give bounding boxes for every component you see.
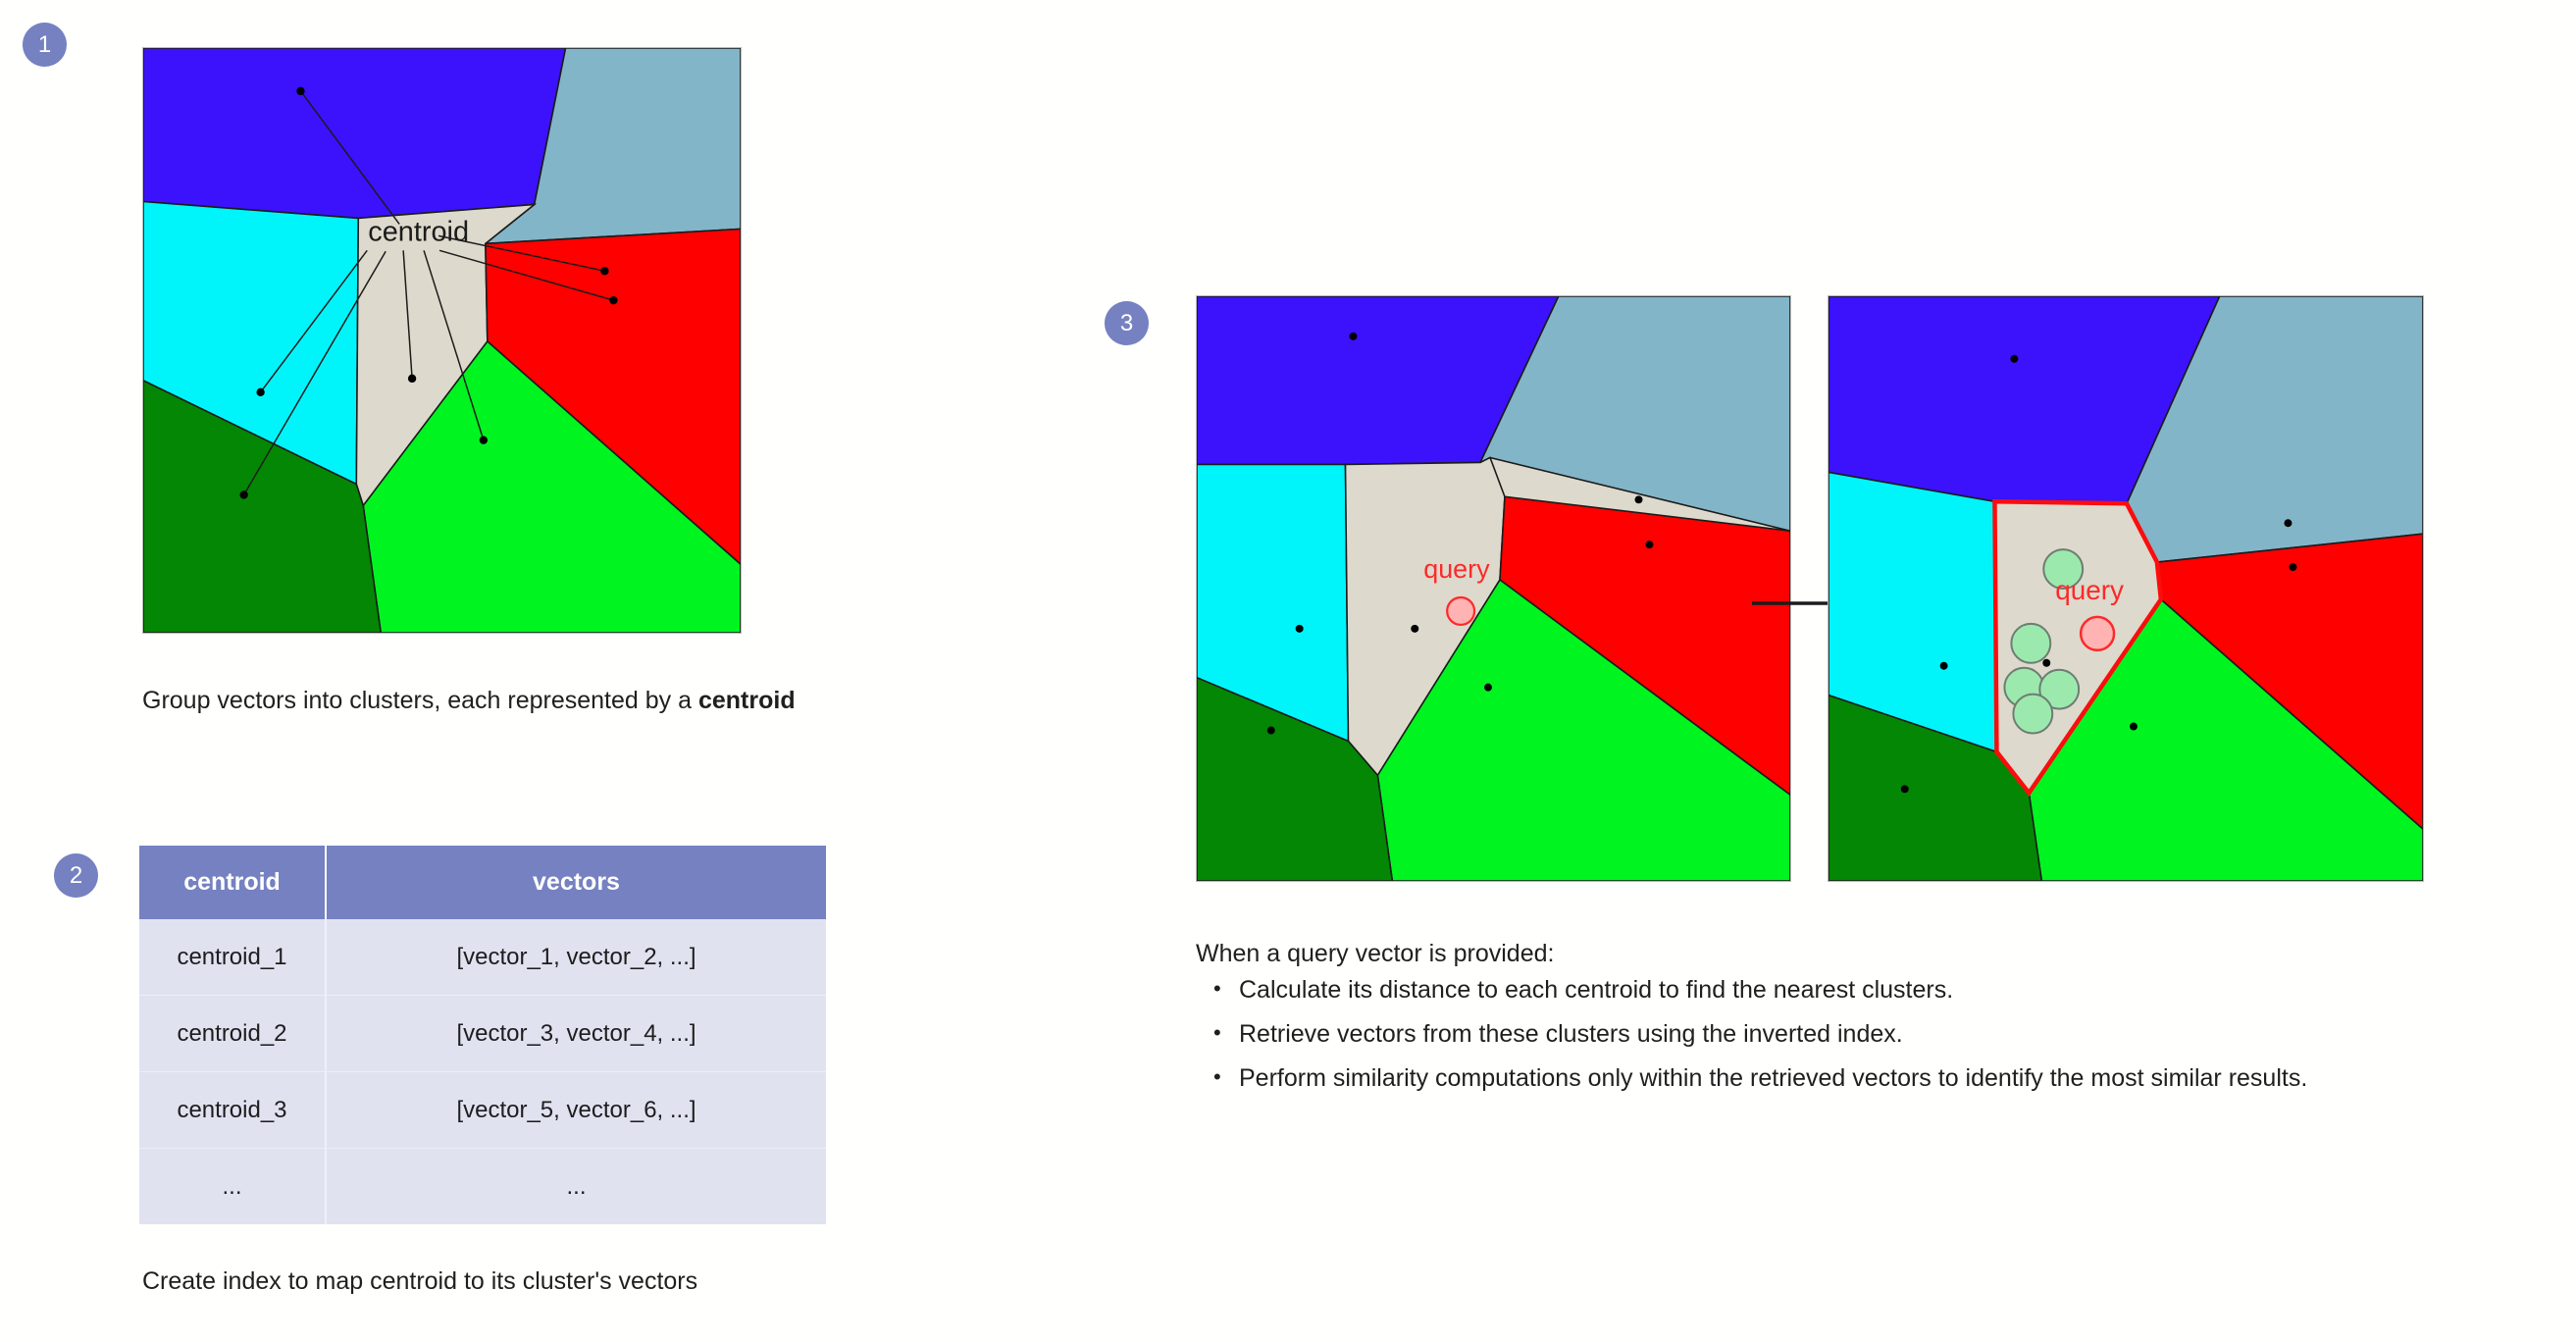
- column-header-centroid: centroid: [139, 846, 326, 919]
- centroid-label: centroid: [368, 216, 469, 247]
- step3-intro: When a query vector is provided:: [1196, 940, 2569, 968]
- cell-vectors: [vector_5, vector_6, ...]: [326, 1072, 826, 1149]
- step3-description: When a query vector is provided: Calcula…: [1196, 940, 2569, 1109]
- table-row: centroid_1 [vector_1, vector_2, ...]: [139, 919, 826, 996]
- caption-step1-prefix: Group vectors into clusters, each repres…: [142, 687, 698, 714]
- centroid-vectors-table: centroid vectors centroid_1 [vector_1, v…: [139, 846, 826, 1224]
- voronoi-diagram-step1: centroid: [142, 47, 742, 634]
- step-badge-3: 3: [1105, 301, 1149, 345]
- list-item: Perform similarity computations only wit…: [1239, 1064, 2569, 1093]
- column-header-vectors: vectors: [326, 846, 826, 919]
- voronoi-svg-step3b: query: [1829, 296, 2423, 881]
- table-row: centroid_2 [vector_3, vector_4, ...]: [139, 996, 826, 1072]
- caption-step1-bold: centroid: [698, 687, 796, 714]
- list-item: Calculate its distance to each centroid …: [1239, 976, 2569, 1005]
- cell-centroid: centroid_1: [139, 919, 326, 996]
- list-item: Retrieve vectors from these clusters usi…: [1239, 1020, 2569, 1049]
- cell-centroid: centroid_3: [139, 1072, 326, 1149]
- cell-vectors: [vector_1, vector_2, ...]: [326, 919, 826, 996]
- voronoi-diagram-step3-query: query: [1196, 295, 1791, 882]
- table-header-row: centroid vectors: [139, 846, 826, 919]
- query-point: [2081, 617, 2114, 650]
- voronoi-diagram-step3-retrieved: query: [1828, 295, 2424, 882]
- table-row: centroid_3 [vector_5, vector_6, ...]: [139, 1072, 826, 1149]
- caption-step2: Create index to map centroid to its clus…: [142, 1267, 697, 1296]
- voronoi-svg-step1: centroid: [143, 48, 741, 633]
- voronoi-svg-step3a: query: [1197, 296, 1790, 881]
- step3-bullet-list: Calculate its distance to each centroid …: [1196, 976, 2569, 1093]
- query-point: [1447, 597, 1474, 625]
- cell-centroid: centroid_2: [139, 996, 326, 1072]
- step-badge-2: 2: [54, 853, 98, 898]
- caption-step1: Group vectors into clusters, each repres…: [142, 687, 796, 715]
- cell-centroid: ...: [139, 1149, 326, 1225]
- query-label: query: [1423, 554, 1490, 584]
- table-row: ... ...: [139, 1149, 826, 1225]
- cell-vectors: [vector_3, vector_4, ...]: [326, 996, 826, 1072]
- cell-vectors: ...: [326, 1149, 826, 1225]
- query-label: query: [2055, 575, 2124, 605]
- step-badge-1: 1: [23, 23, 67, 67]
- region-blue: [143, 48, 566, 218]
